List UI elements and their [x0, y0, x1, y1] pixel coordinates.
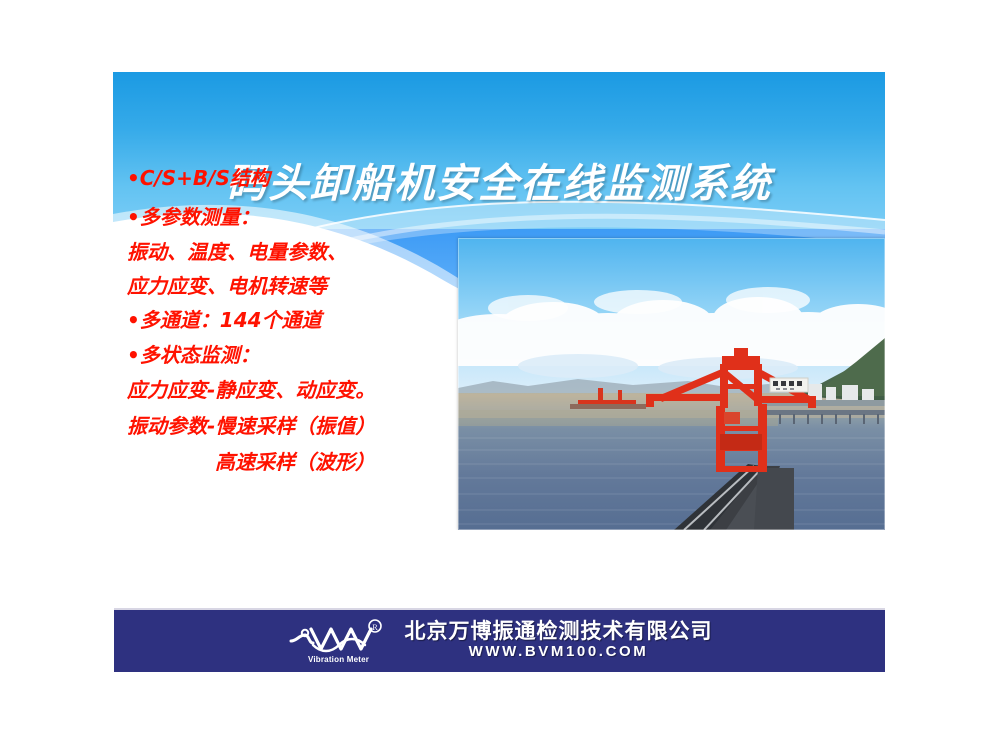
bullet-vibration-detail: 振动参数-慢速采样（振值）	[127, 416, 477, 436]
crane-photo-graphic	[458, 238, 885, 530]
bullet-architecture: •C/S+B/S结构	[127, 168, 477, 188]
footer-text-block: 北京万博振通检测技术有限公司 WWW.BVM100.COM	[405, 620, 713, 660]
presentation-slide: 码头卸船机安全在线监测系统 •C/S+B/S结构 •多参数测量： 振动、温度、电…	[113, 72, 885, 530]
bullet-multi-state: •多状态监测：	[127, 345, 477, 365]
bullet-multi-channel: •多通道：144个通道	[127, 310, 477, 330]
svg-text:R: R	[372, 623, 378, 632]
waveform-logo-icon: R	[287, 617, 391, 657]
bullet-strain-detail: 应力应变-静应变、动应变。	[127, 380, 477, 400]
bullet-sampling-detail: 高速采样（波形）	[127, 452, 477, 472]
company-url: WWW.BVM100.COM	[469, 643, 649, 660]
bullet-multi-parameter: •多参数测量：	[127, 207, 477, 227]
bullet-list: •C/S+B/S结构 •多参数测量： 振动、温度、电量参数、 应力应变、电机转速…	[127, 168, 477, 484]
company-name: 北京万博振通检测技术有限公司	[405, 620, 713, 642]
bullet-parameters-line-2: 应力应变、电机转速等	[127, 276, 477, 296]
bullet-parameters-line-1: 振动、温度、电量参数、	[127, 242, 477, 262]
crane-photo	[458, 238, 885, 530]
slide-root: 码头卸船机安全在线监测系统 •C/S+B/S结构 •多参数测量： 振动、温度、电…	[0, 0, 1000, 750]
footer-bar: R Vibration Meter 北京万博振通检测技术有限公司 WWW.BVM…	[114, 608, 885, 672]
vibration-meter-logo: R Vibration Meter	[287, 617, 391, 663]
logo-caption: Vibration Meter	[289, 655, 389, 664]
footer-content: R Vibration Meter 北京万博振通检测技术有限公司 WWW.BVM…	[287, 617, 713, 663]
